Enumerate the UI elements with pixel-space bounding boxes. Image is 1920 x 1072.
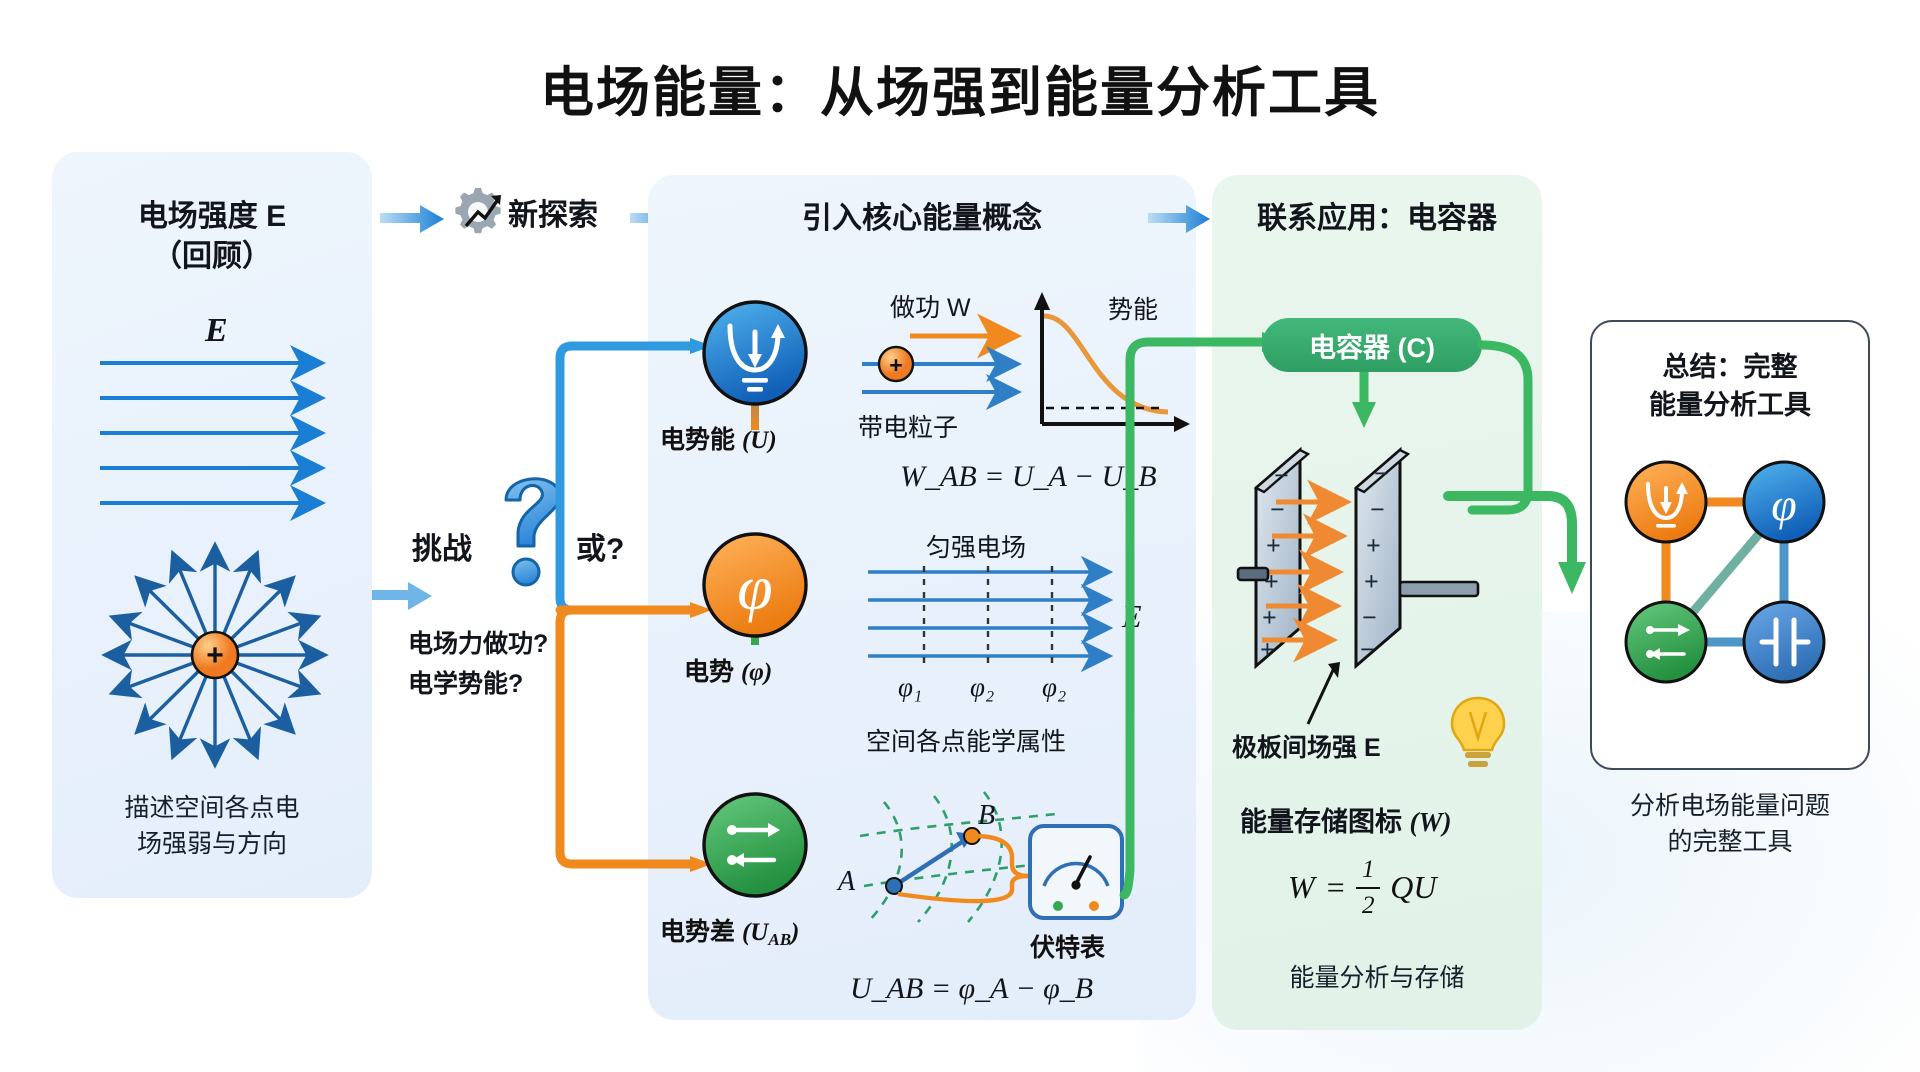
- node-label-potential-energy: 电势能 (U): [660, 420, 777, 456]
- formula-uab-text: U_AB = φ_A − φ_B: [850, 972, 1093, 1005]
- recap-caption-line2: 场强弱与方向: [52, 828, 372, 862]
- fraction-bar: [1356, 887, 1380, 889]
- node-label-uab-paren: (U: [742, 919, 768, 946]
- arrow-recap-to-explore: [380, 203, 450, 237]
- svg-text:+: +: [1366, 531, 1381, 560]
- charged-particle-label: 带电粒子: [858, 408, 958, 444]
- arrow-core-to-application: [1148, 203, 1214, 237]
- equipotential-tick-2: φ₂: [970, 672, 994, 703]
- equipotential-tick-3: φ₂: [1042, 672, 1066, 703]
- energy-storage-label-paren: (W): [1410, 807, 1452, 837]
- uniform-field-lines: [100, 355, 340, 505]
- summary-node-potential-difference: [1626, 602, 1706, 682]
- svg-text:−: −: [1270, 495, 1285, 524]
- formula-uab: U_AB = φ_A − φ_B: [850, 972, 1093, 1006]
- svg-text:−: −: [1274, 461, 1289, 490]
- svg-text:+: +: [1364, 567, 1379, 596]
- node-potential-energy[interactable]: [700, 298, 810, 408]
- energy-storage-label-main: 能量存储图标: [1240, 807, 1402, 837]
- svg-text:+: +: [889, 352, 902, 378]
- svg-text:−: −: [1370, 495, 1385, 524]
- arrow-recap-to-questions: [372, 580, 436, 614]
- formula-qu: QU: [1390, 869, 1436, 906]
- recap-caption-line1: 描述空间各点电: [52, 792, 372, 826]
- work-label: 做功 W: [890, 288, 971, 324]
- lightbulb-icon: [1448, 694, 1508, 768]
- node-label-uab-close: ): [791, 919, 799, 946]
- infographic-canvas: 电场能量：从场强到能量分析工具 电场强度 E （回顾） E: [0, 0, 1920, 1072]
- svg-text:+: +: [1262, 603, 1277, 632]
- uniform-field-title: 匀强电场: [926, 528, 1026, 564]
- summary-heading-line2: 能量分析工具: [1590, 388, 1870, 423]
- node-potential-difference[interactable]: [700, 790, 810, 900]
- recap-field-symbol: E: [205, 312, 228, 350]
- field-annotation-pointer: [1288, 660, 1348, 734]
- node-label-uab-sub: AB: [768, 930, 791, 949]
- node-label-potential: 电势 (φ): [684, 652, 772, 688]
- phi-icon: φ: [737, 552, 772, 623]
- voltmeter-label: 伏特表: [1030, 928, 1105, 964]
- summary-node-graph: φ: [1612, 448, 1852, 738]
- svg-text:−: −: [1360, 635, 1375, 664]
- gear-growth-icon: [452, 186, 504, 238]
- recap-heading-line1: 电场强度 E: [52, 198, 372, 236]
- summary-caption-line1: 分析电场能量问题: [1570, 790, 1890, 824]
- question-line-2: 电学势能?: [408, 664, 523, 700]
- node-label-phi-main: 电势: [684, 658, 734, 686]
- plate-field-annotation-text: 极板间场强 E: [1232, 734, 1381, 762]
- formula-energy-stored: W = 1 2 QU: [1288, 856, 1436, 919]
- summary-caption-line2: 的完整工具: [1570, 826, 1890, 860]
- node-label-phi-paren: (φ): [741, 659, 772, 686]
- summary-node-capacitor: [1744, 602, 1824, 682]
- formula-numerator: 1: [1362, 856, 1375, 884]
- summary-heading-line1: 总结：完整: [1590, 350, 1870, 385]
- application-caption: 能量分析与存储: [1212, 962, 1542, 996]
- uniform-field-caption: 空间各点能学属性: [866, 722, 1066, 758]
- charge-sign-label: +: [206, 639, 224, 672]
- point-a-label: A: [838, 866, 855, 898]
- equipotential-tick-1: φ₁: [898, 672, 922, 703]
- svg-text:−: −: [1374, 459, 1389, 488]
- node-label-uab-main: 电势差: [660, 918, 735, 946]
- challenge-label: 挑战: [412, 524, 472, 568]
- graph-label-potential-energy: 势能: [1108, 290, 1158, 326]
- core-heading: 引入核心能量概念: [648, 200, 1196, 238]
- formula-w-symbol: W: [1288, 869, 1315, 906]
- svg-text:−: −: [1362, 603, 1377, 632]
- recap-heading-line2: （回顾）: [52, 238, 372, 276]
- voltmeter-icon[interactable]: [1028, 824, 1124, 920]
- svg-text:+: +: [1266, 531, 1281, 560]
- new-exploration-label: 新探索: [508, 190, 598, 234]
- uniform-field-equipotentials: [868, 566, 1148, 686]
- point-a-marker: [886, 878, 902, 894]
- page-title: 电场能量：从场强到能量分析工具: [0, 48, 1920, 127]
- energy-storage-label: 能量存储图标 (W): [1240, 800, 1452, 839]
- equipotential-lines: [924, 566, 1052, 666]
- node-label-potential-difference: 电势差 (UAB): [660, 912, 799, 950]
- work-label-text: 做功 W: [890, 294, 971, 322]
- summary-phi-icon: φ: [1771, 479, 1796, 530]
- application-heading: 联系应用：电容器: [1212, 200, 1542, 238]
- svg-text:+: +: [1260, 635, 1275, 664]
- formula-equals: =: [1325, 869, 1347, 906]
- question-line-1: 电场力做功?: [408, 624, 548, 660]
- plate-field-annotation: 极板间场强 E: [1232, 728, 1381, 764]
- formula-denominator: 2: [1362, 892, 1375, 920]
- node-label-u-main: 电势能: [660, 426, 735, 454]
- radial-field-diagram: +: [100, 540, 330, 770]
- node-potential[interactable]: φ: [700, 530, 810, 640]
- node-label-u-paren: (U): [742, 427, 777, 454]
- point-b-label: B: [978, 800, 995, 832]
